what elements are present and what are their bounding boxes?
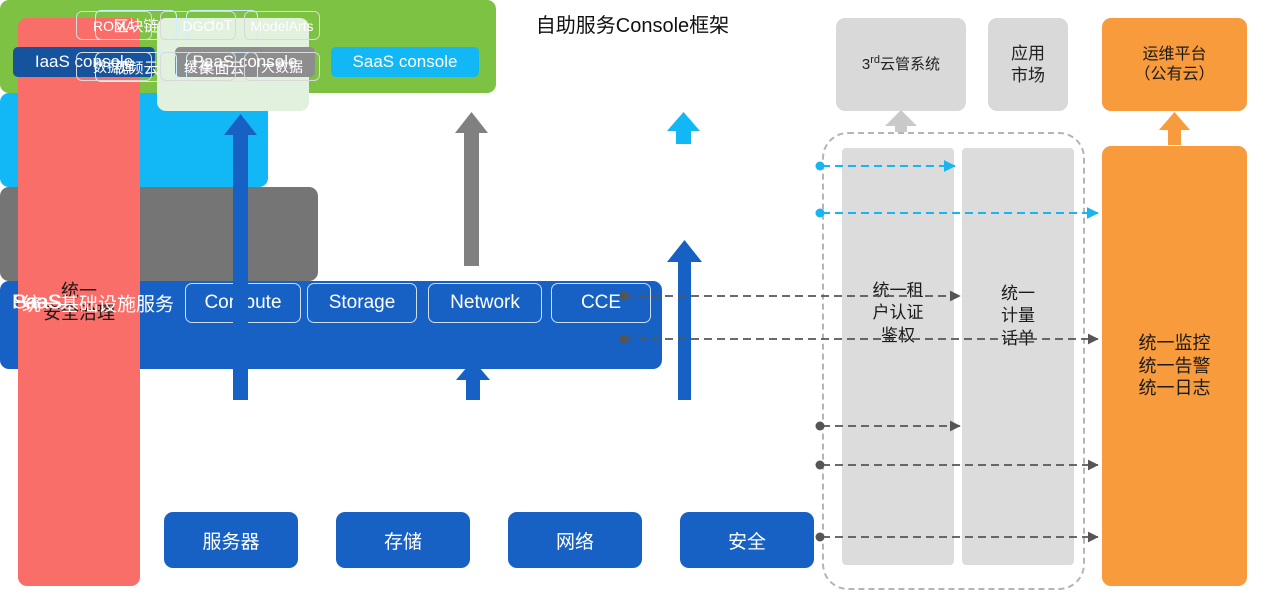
ops-monitoring-panel: 统一监控 统一告警 统一日志 (1102, 146, 1247, 586)
shared-column-auth (842, 148, 954, 565)
paas-chip-database[interactable]: 数据库 (76, 52, 152, 81)
paas-chip-dgc-label: DGC (182, 18, 213, 34)
saas-console-chip[interactable]: SaaS console (331, 47, 479, 77)
shared-column-auth-label: 统一租 户认证 鉴权 (842, 280, 954, 347)
hardware-box-server-label: 服务器 (202, 527, 259, 554)
metering-line1: 统一 (962, 283, 1074, 305)
app-market-box: 应用 市场 (988, 18, 1068, 111)
arrow-ops-panel-to-ops-platform (1159, 112, 1190, 145)
saas-console-label: SaaS console (353, 52, 458, 72)
ops-platform-line1: 运维平台 (1134, 45, 1214, 65)
app-market-line1: 应用 (1011, 43, 1045, 64)
metering-line2: 计量 (962, 305, 1074, 327)
infra-chip-cce-label: CCE (581, 292, 621, 314)
infra-chip-network-label: Network (450, 292, 520, 314)
paas-chip-dgc[interactable]: DGC (160, 11, 236, 40)
arrow-shared-to-third-party (885, 110, 917, 132)
hardware-box-security[interactable]: 安全 (680, 512, 814, 568)
hardware-box-storage[interactable]: 存储 (336, 512, 470, 568)
infra-chip-storage[interactable]: Storage (307, 283, 417, 323)
ops-panel-line1: 统一监控 (1139, 332, 1211, 355)
paas-chip-modelarts[interactable]: ModelArts (244, 11, 320, 40)
infra-chip-compute[interactable]: Compute (185, 283, 301, 323)
infra-chip-cce[interactable]: CCE (551, 283, 651, 323)
arrow-paas-to-console (455, 112, 488, 266)
auth-line2: 户认证 (842, 302, 954, 324)
shared-column-metering-label: 统一 计量 话单 (962, 283, 1074, 350)
paas-chip-modelarts-label: ModelArts (250, 18, 313, 34)
architecture-diagram: 统一 安全治理 API网关 自助服务Console框架 IaaS console… (0, 0, 1265, 605)
paas-chip-cache-label: 缓存 (184, 57, 212, 77)
ops-platform-line2: （公有云） (1134, 65, 1214, 85)
hardware-box-storage-label: 存储 (384, 527, 422, 554)
hardware-box-network-label: 网络 (556, 527, 594, 554)
ops-panel-line2: 统一告警 (1139, 355, 1211, 378)
paas-chip-database-label: 数据库 (93, 57, 135, 77)
metering-line3: 话单 (962, 328, 1074, 350)
arrow-infra-to-saas (667, 240, 702, 400)
ops-platform-box: 运维平台 （公有云） (1102, 18, 1247, 111)
unified-infrastructure-label: 统一基础设施服务 (22, 289, 174, 316)
infra-chip-storage-label: Storage (329, 292, 396, 314)
arrow-saas-to-console (667, 112, 700, 144)
auth-line1: 统一租 (842, 280, 954, 302)
infra-chip-compute-label: Compute (204, 292, 281, 314)
hardware-box-server[interactable]: 服务器 (164, 512, 298, 568)
third-party-cloud-mgmt-box: 3rd云管系统 (836, 18, 966, 111)
hardware-box-security-label: 安全 (728, 527, 766, 554)
paas-chip-bigdata-label: 大数据 (261, 57, 303, 77)
hardware-box-network[interactable]: 网络 (508, 512, 642, 568)
paas-chip-roma-label: ROMA (93, 18, 135, 34)
infra-chip-network[interactable]: Network (428, 283, 542, 323)
paas-chip-bigdata[interactable]: 大数据 (244, 52, 320, 81)
ops-panel-line3: 统一日志 (1139, 377, 1211, 400)
paas-chip-cache[interactable]: 缓存 (160, 52, 236, 81)
paas-chip-roma[interactable]: ROMA (76, 11, 152, 40)
auth-line3: 鉴权 (842, 325, 954, 347)
third-party-cloud-mgmt-label: 3rd云管系统 (862, 54, 940, 75)
shared-column-metering (962, 148, 1074, 565)
app-market-line2: 市场 (1011, 65, 1045, 86)
